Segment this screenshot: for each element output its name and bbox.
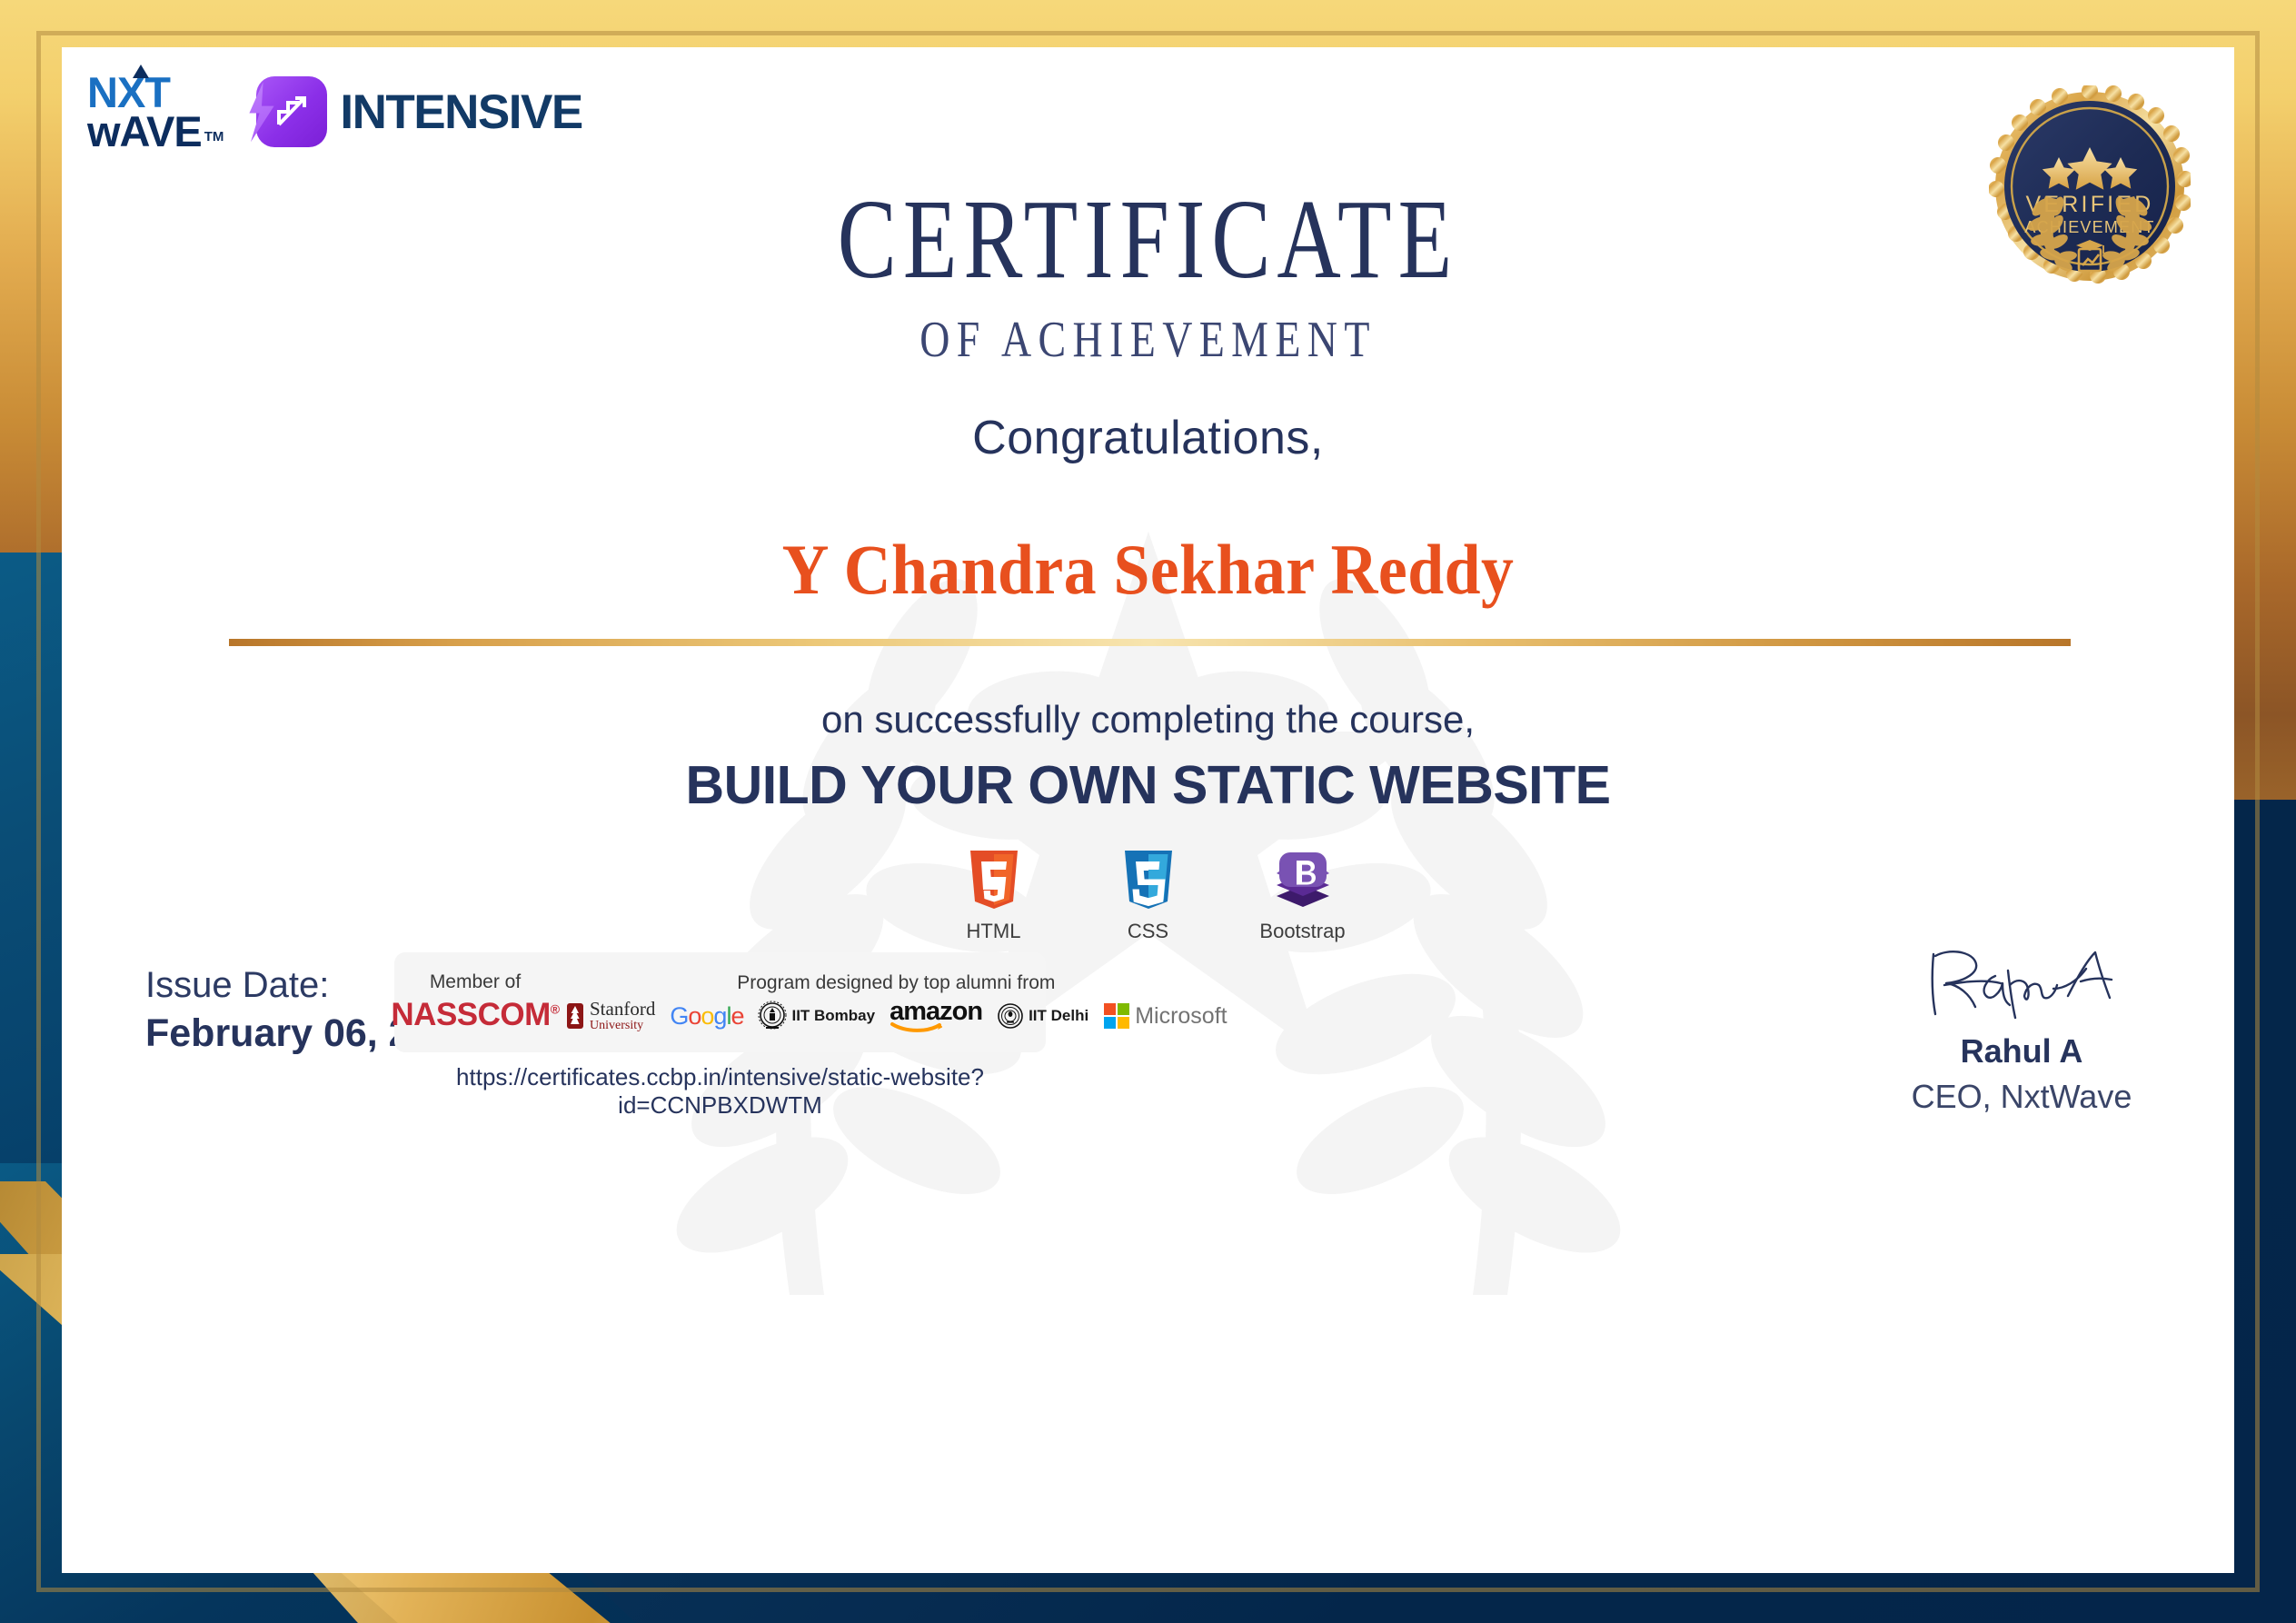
nxtwave-logo-line2: wAVE: [87, 112, 202, 151]
alumni-logo-google: Google: [670, 1002, 743, 1031]
intensive-mark-icon: [256, 76, 327, 147]
partners-strip: Member of NASSCOM® Program designed by t…: [394, 952, 1046, 1052]
microsoft-squares-icon: [1103, 1002, 1130, 1030]
stanford-sub: University: [590, 1020, 655, 1032]
iit-delhi-seal-icon: [997, 1001, 1024, 1031]
intensive-wordmark: INTENSIVE: [340, 85, 581, 140]
trademark-icon: TM: [204, 131, 224, 144]
signer-role: CEO, NxtWave: [1876, 1078, 2167, 1116]
nxtwave-logo[interactable]: NXT wAVE TM: [87, 73, 224, 151]
google-wordmark-icon: Google: [670, 1002, 743, 1031]
member-of-block: Member of NASSCOM®: [394, 971, 556, 1033]
signer-name: Rahul A: [1876, 1032, 2167, 1070]
gold-divider-line: [229, 639, 2071, 646]
member-of-label: Member of: [430, 971, 521, 993]
signature-block: Rahul A CEO, NxtWave: [1876, 943, 2167, 1116]
amazon-wordmark-icon: amazon: [890, 997, 982, 1026]
nasscom-wordmark: NASSCOM: [391, 997, 550, 1032]
stanford-name: Stanford: [590, 1000, 655, 1019]
tech-item-bootstrap: Bootstrap: [1256, 849, 1350, 943]
recipient-name: Y Chandra Sekhar Reddy: [149, 529, 2148, 611]
alumni-logo-stanford: Stanford University: [565, 1000, 655, 1032]
intensive-logo[interactable]: INTENSIVE: [256, 76, 581, 147]
html5-icon: [966, 849, 1022, 912]
certificate-document: NXT wAVE TM INTENSIVE: [0, 0, 2296, 1623]
verified-achievement-badge: VERIFIED ACHIEVEMENT: [1989, 85, 2191, 287]
alumni-logo-microsoft: Microsoft: [1103, 1002, 1227, 1030]
alumni-block: Program designed by top alumni from Stan…: [556, 972, 1237, 1032]
header-logos: NXT wAVE TM INTENSIVE: [87, 73, 582, 151]
iit-delhi-label: IIT Delhi: [1029, 1007, 1088, 1025]
tech-item-html: HTML: [947, 849, 1041, 943]
css3-icon: [1120, 849, 1177, 912]
alumni-logo-amazon: amazon: [890, 1000, 982, 1032]
tech-item-css: CSS: [1101, 849, 1196, 943]
signature-icon: [1917, 943, 2126, 1031]
alumni-logo-iit-bombay: IIT Bombay: [758, 1001, 875, 1031]
tech-stack-row: HTML CSS Bootstrap: [62, 849, 2234, 943]
certificate-canvas: NXT wAVE TM INTENSIVE: [62, 47, 2234, 1573]
nxtwave-logo-line1: NXT: [87, 73, 224, 112]
page-title: CERTIFICATE: [301, 184, 1995, 297]
alumni-label: Program designed by top alumni from: [737, 972, 1055, 994]
course-name: BUILD YOUR OWN STATIC WEBSITE: [62, 754, 2234, 816]
alumni-logo-row: Stanford University Google: [565, 1000, 1228, 1032]
tech-label-html: HTML: [967, 920, 1021, 943]
tech-label-bootstrap: Bootstrap: [1259, 920, 1345, 943]
verify-url[interactable]: https://certificates.ccbp.in/intensive/s…: [394, 1063, 1046, 1120]
page-subtitle: OF ACHIEVEMENT: [257, 311, 2039, 369]
stanford-tree-icon: [565, 1001, 585, 1031]
iit-bombay-label: IIT Bombay: [791, 1007, 875, 1025]
nasscom-logo: NASSCOM®: [391, 997, 559, 1033]
bootstrap-icon: [1271, 849, 1335, 912]
alumni-logo-iit-delhi: IIT Delhi: [997, 1001, 1088, 1031]
microsoft-label: Microsoft: [1135, 1003, 1227, 1030]
iit-bombay-seal-icon: [758, 1001, 787, 1031]
up-arrow-icon: [133, 65, 149, 78]
course-lead-text: on successfully completing the course,: [62, 698, 2234, 742]
congratulations-text: Congratulations,: [62, 411, 2234, 465]
tech-label-css: CSS: [1128, 920, 1168, 943]
